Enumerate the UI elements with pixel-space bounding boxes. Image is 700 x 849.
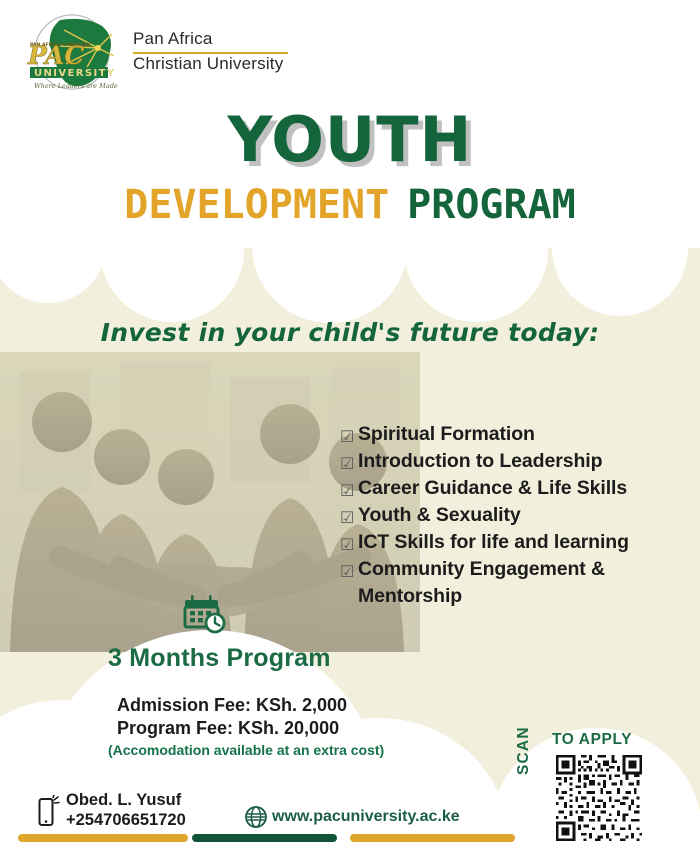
footer-bar-gold-left — [18, 834, 188, 842]
program-fee: Program Fee: KSh. 20,000 — [117, 718, 339, 739]
admission-fee: Admission Fee: KSh. 2,000 — [117, 695, 347, 716]
list-item-label: Youth & Sexuality — [358, 503, 521, 528]
svg-text:UNIVERSITY: UNIVERSITY — [34, 68, 115, 79]
list-item-label: ICT Skills for life and learning — [358, 530, 629, 555]
svg-text:PAC: PAC — [27, 41, 84, 70]
contact-person-name: Obed. L. Yusuf — [66, 791, 181, 810]
globe-icon — [244, 805, 268, 829]
program-duration-label: 3 Months Program — [108, 644, 331, 673]
list-item-label: Spiritual Formation — [358, 422, 535, 447]
list-item: ☑ Youth & Sexuality — [340, 503, 690, 528]
accommodation-note: (Accomodation available at an extra cost… — [108, 742, 384, 758]
list-item-label: Career Guidance & Life Skills — [358, 476, 627, 501]
list-item: ☑ ICT Skills for life and learning — [340, 530, 690, 555]
poster-canvas: PAN AFRICA CHRISTIAN PAC UNIVERSITY Wher… — [0, 0, 700, 849]
tagline: Invest in your child's future today: — [0, 318, 700, 347]
university-name-line1: Pan Africa — [133, 26, 283, 51]
poster-header: PAN AFRICA CHRISTIAN PAC UNIVERSITY Wher… — [0, 0, 700, 105]
title-second-line: DEVELOPMENTPROGRAM — [0, 182, 700, 228]
list-item: ☑ Spiritual Formation — [340, 422, 690, 447]
checkbox-icon: ☑ — [340, 508, 358, 528]
list-item-label: Mentorship — [358, 584, 462, 609]
list-item-label: Introduction to Leadership — [358, 449, 602, 474]
list-item: ☑ Community Engagement & — [340, 557, 690, 582]
svg-text:Where Leaders are Made: Where Leaders are Made — [34, 82, 118, 90]
list-item: ☑ Career Guidance & Life Skills — [340, 476, 690, 501]
mobile-phone-ringing-icon — [38, 795, 60, 827]
website-url[interactable]: www.pacuniversity.ac.ke — [272, 808, 460, 826]
to-apply-label: TO APPLY — [552, 731, 632, 749]
calendar-clock-icon — [182, 594, 230, 636]
checkbox-icon: ☑ — [340, 535, 358, 555]
pac-university-logo-icon: PAN AFRICA CHRISTIAN PAC UNIVERSITY Wher… — [20, 12, 130, 100]
title-development: DEVELOPMENT — [124, 182, 389, 228]
contact-phone-number[interactable]: +254706651720 — [66, 811, 186, 830]
footer-bar-gold-right — [350, 834, 515, 842]
checkbox-icon: ☑ — [340, 427, 358, 447]
qr-code[interactable] — [553, 752, 645, 844]
checkbox-icon: ☑ — [340, 454, 358, 474]
university-name-divider — [133, 52, 288, 54]
scan-label: SCAN — [515, 726, 533, 775]
footer-bar-green — [192, 834, 337, 842]
title-program: PROGRAM — [407, 182, 576, 228]
university-name: Pan Africa Christian University — [133, 26, 283, 76]
checkbox-icon: ☑ — [340, 562, 358, 582]
list-item: ☑ Introduction to Leadership — [340, 449, 690, 474]
list-item: Mentorship — [340, 584, 690, 609]
checkbox-icon: ☑ — [340, 481, 358, 501]
program-features-list: ☑ Spiritual Formation ☑ Introduction to … — [340, 422, 690, 611]
title-youth: YOUTH — [0, 103, 700, 176]
list-item-label: Community Engagement & — [358, 557, 605, 582]
university-name-line2: Christian University — [133, 51, 283, 76]
